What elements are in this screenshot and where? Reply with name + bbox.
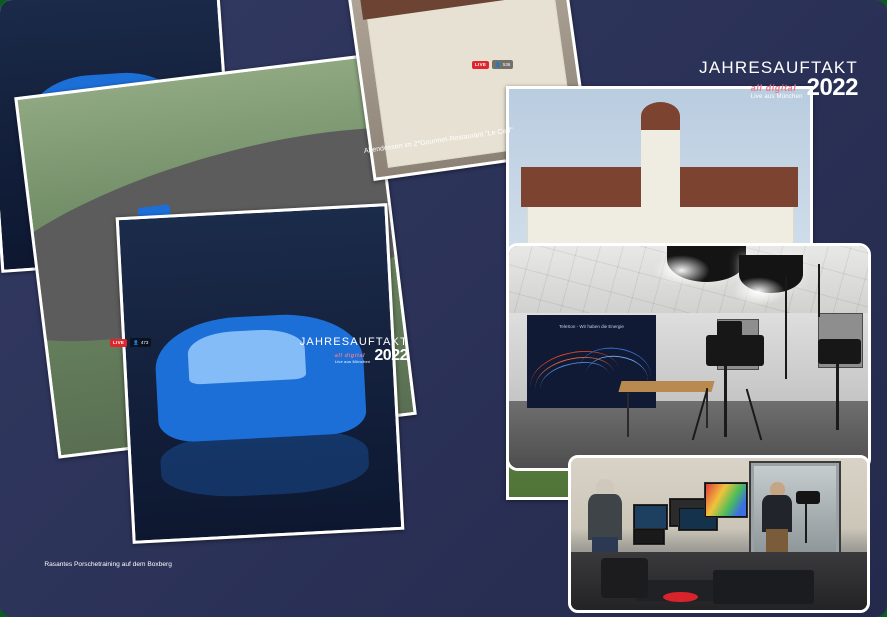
color-monitor (704, 482, 747, 517)
second-tripod (836, 364, 839, 431)
slide-canvas: Jahresauftakt 2022 mit unserem Kooperati… (0, 0, 887, 617)
logo-line-2: all digital (751, 84, 803, 93)
viewer-count-value: 536 (503, 62, 511, 67)
chart-jahresauftakt-logo: JAHRESAUFTAKT all digital Live aus Münch… (300, 337, 408, 364)
table-leg-left (627, 393, 629, 437)
jahresauftakt-logo: JAHRESAUFTAKT all digital Live aus Münch… (699, 59, 858, 100)
camera-body (706, 335, 763, 366)
chart-live-badge: LIVE (110, 339, 127, 347)
second-camera (818, 339, 861, 363)
studio-backdrop: TeleSon - Wir haben die Energie (527, 315, 656, 408)
viewer-count-icon: 👤 (495, 62, 501, 68)
softbox-glow-1 (653, 255, 710, 286)
equipment-case (713, 570, 814, 603)
viewer-count-icon: 👤 (133, 340, 139, 346)
porsche-caption: Rasantes Porschetraining auf dem Boxberg (44, 561, 172, 568)
chart-viewer-count-badge: 👤 473 (130, 338, 151, 347)
light-stand-2 (818, 264, 820, 317)
logo-year: 2022 (807, 76, 858, 100)
monitor-4 (633, 528, 665, 545)
tv-studio-photo: TeleSon - Wir haben die Energie (506, 243, 871, 471)
monitor-1 (633, 504, 668, 530)
backdrop-text: TeleSon - Wir haben die Energie (559, 324, 624, 329)
chart-live-badge-group: LIVE 👤 473 (110, 338, 151, 347)
chart-viewer-count-value: 473 (141, 340, 149, 345)
porsche-photo-2 (116, 203, 405, 544)
live-badge: LIVE (472, 61, 489, 69)
office-chair (601, 558, 648, 598)
softbox-glow-2 (732, 277, 786, 306)
broadcast-control-room-photo (568, 455, 870, 613)
live-badge-group: LIVE 👤 536 (472, 60, 513, 69)
tripod-column (724, 366, 727, 437)
incentive-slide: Abendessen im 2*Gourmet-Restaurant "Le C… (0, 0, 383, 154)
studio-table (619, 381, 716, 392)
studio-tripod (805, 498, 807, 544)
chart-logo-line-3: Live aus München (335, 360, 371, 364)
light-stand-1 (785, 277, 787, 379)
logo-line-3: Live aus München (751, 94, 803, 100)
parked-camera (796, 491, 820, 503)
camera-viewfinder (717, 321, 742, 339)
viewer-count-badge: 👤 536 (492, 60, 513, 69)
technician-doorway (760, 482, 793, 558)
chart-logo-year: 2022 (374, 348, 408, 364)
